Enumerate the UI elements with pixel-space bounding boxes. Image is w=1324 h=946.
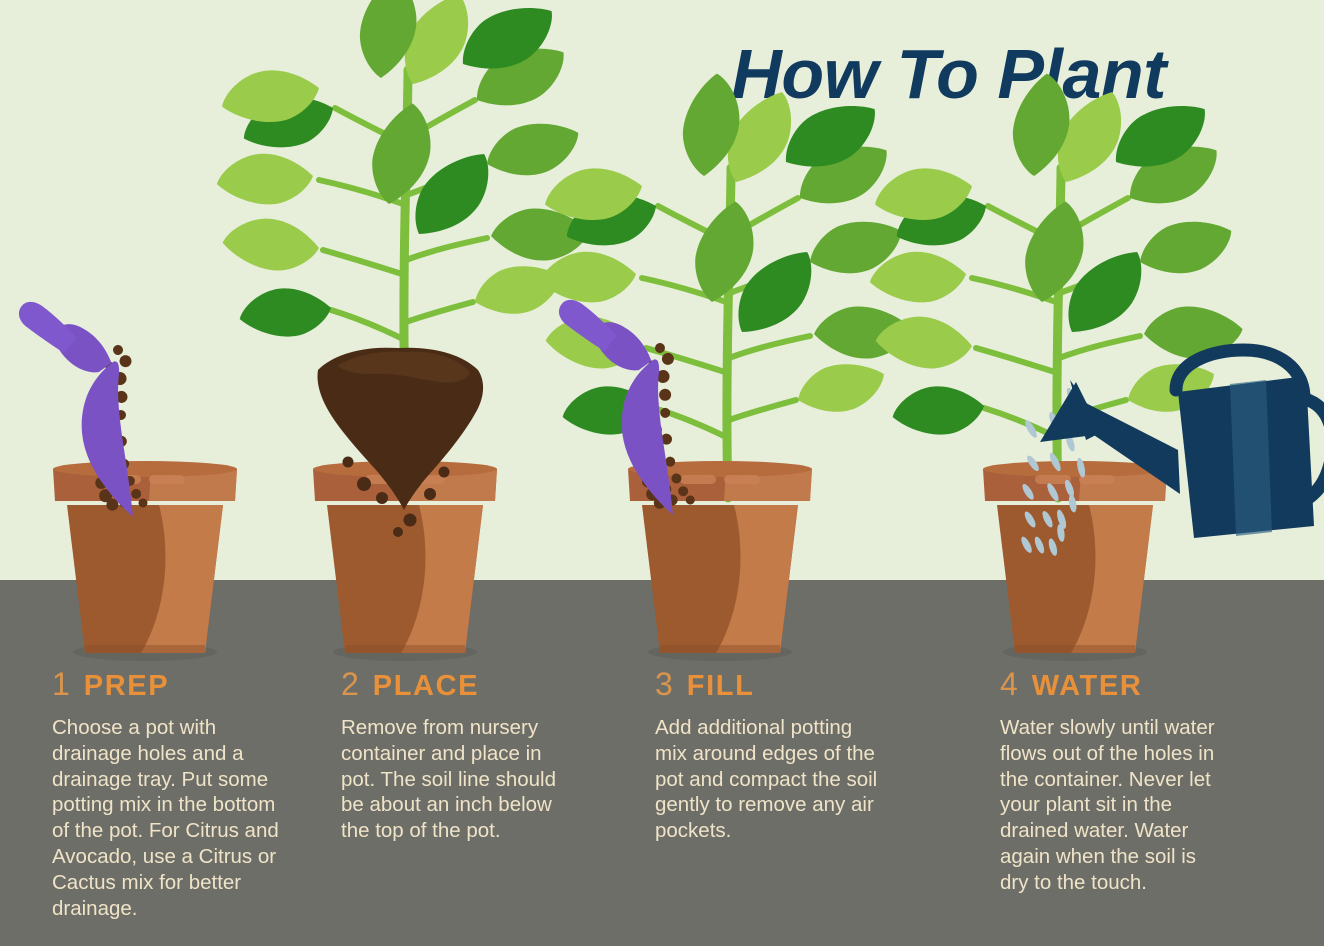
step-3-label: FILL [687, 672, 755, 701]
step-1-heading: 1 PREP [52, 668, 297, 701]
step-2-heading: 2 PLACE [341, 668, 571, 701]
step-1-label: PREP [84, 672, 169, 701]
step-4-label: WATER [1032, 672, 1143, 701]
step-1-number: 1 [52, 668, 70, 700]
page-title: How To Plant [731, 34, 1166, 114]
step-3-text: Add additional potting mix around edges … [655, 715, 887, 844]
step-3-heading: 3 FILL [655, 668, 887, 701]
step-2-text: Remove from nursery container and place … [341, 715, 571, 844]
how-to-plant-infographic: How To Plant [0, 0, 1324, 946]
step-2: 2 PLACE Remove from nursery container an… [341, 668, 571, 844]
step-4-heading: 4 WATER [1000, 668, 1225, 701]
step-2-label: PLACE [373, 672, 479, 701]
step-4-text: Water slowly until water flows out of th… [1000, 715, 1225, 896]
step-3-number: 3 [655, 668, 673, 700]
step-4-number: 4 [1000, 668, 1018, 700]
step-1-text: Choose a pot with drainage holes and a d… [52, 715, 297, 922]
step-4: 4 WATER Water slowly until water flows o… [1000, 668, 1225, 896]
step-3: 3 FILL Add additional potting mix around… [655, 668, 887, 844]
step-1: 1 PREP Choose a pot with drainage holes … [52, 668, 297, 922]
step-2-number: 2 [341, 668, 359, 700]
